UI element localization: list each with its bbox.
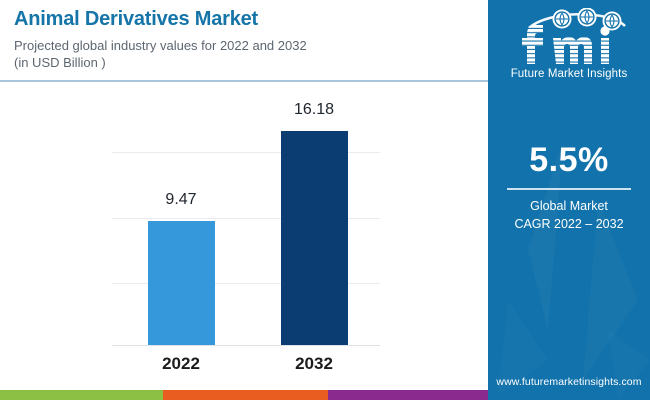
chart-subtitle: Projected global industry values for 202… [14, 37, 474, 71]
fmi-logo-icon [505, 8, 633, 66]
bar-2032[interactable] [281, 131, 348, 345]
cagr-caption-line-2: CAGR 2022 – 2032 [488, 215, 650, 233]
axis-label-2032: 2032 [269, 354, 359, 374]
footer-strip-orange [163, 390, 328, 400]
bar-value-2032: 16.18 [269, 101, 359, 119]
infographic-root: Animal Derivatives Market Projected glob… [0, 0, 650, 400]
fmi-logo-tagline: Future Market Insights [488, 68, 650, 80]
brand-panel: Future Market Insights 5.5% Global Marke… [488, 0, 650, 400]
chart-panel: Animal Derivatives Market Projected glob… [0, 0, 488, 400]
footer-color-strip [0, 390, 488, 400]
bar-2022[interactable] [148, 221, 215, 345]
chart-subtitle-line-2: (in USD Billion ) [14, 54, 474, 71]
cagr-caption: Global Market CAGR 2022 – 2032 [488, 197, 650, 233]
axis-baseline [112, 345, 380, 346]
page-title: Animal Derivatives Market [14, 6, 474, 32]
header-divider [0, 80, 488, 82]
axis-label-2022: 2022 [136, 354, 226, 374]
chart-subtitle-line-1: Projected global industry values for 202… [14, 37, 474, 54]
cagr-divider [507, 188, 631, 190]
cagr-caption-line-1: Global Market [488, 197, 650, 215]
footer-strip-green [0, 390, 163, 400]
cagr-value: 5.5% [488, 140, 650, 180]
website-url[interactable]: www.futuremarketinsights.com [488, 376, 650, 388]
cagr-block: 5.5% Global Market CAGR 2022 – 2032 [488, 140, 650, 233]
fmi-logo: Future Market Insights [488, 8, 650, 80]
bar-value-2022: 9.47 [136, 191, 226, 209]
plot-area: 9.47 16.18 2022 2032 [0, 84, 488, 400]
footer-strip-purple [328, 390, 488, 400]
chart-header: Animal Derivatives Market Projected glob… [14, 6, 474, 71]
